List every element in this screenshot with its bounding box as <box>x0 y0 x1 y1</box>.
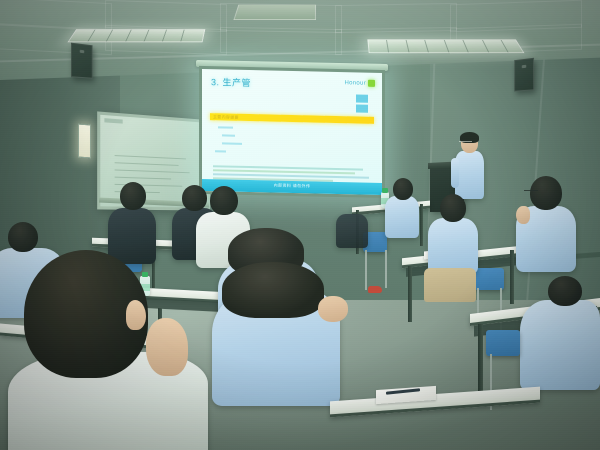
attendee-near-presenter-head <box>393 178 413 200</box>
glasses-icon <box>524 190 538 194</box>
attendee-row2-left-torso <box>108 208 156 264</box>
troffer-light-left <box>67 29 205 42</box>
chair <box>486 330 520 356</box>
sneaker-red <box>368 286 382 293</box>
chair-leg <box>365 250 367 290</box>
slide-banner-label: 主要内容提要 <box>213 113 239 121</box>
troffer-light-right <box>367 39 524 53</box>
slide-banner: 主要内容提要 <box>210 113 374 124</box>
attendee-front-left-hand <box>146 318 188 376</box>
glasses-icon <box>459 141 472 145</box>
projection-screen: 3. 生产管 Honour 主要内容提要 <box>199 66 385 198</box>
whiteboard-tag <box>104 118 122 123</box>
desk-leg <box>408 266 412 322</box>
attendee-right-striped-trousers <box>424 268 476 302</box>
attendee-right-striped-head <box>440 194 466 222</box>
slide-badge <box>356 104 368 112</box>
chair <box>474 268 504 290</box>
presentation-slide: 3. 生产管 Honour 主要内容提要 <box>202 69 382 195</box>
attendee-right-striped-torso <box>428 218 478 274</box>
wall-speaker-left <box>71 43 93 79</box>
attendee-row2-right-head <box>210 186 238 215</box>
wall-light-panel <box>78 124 91 159</box>
slide-logo-text: Honour <box>345 80 366 86</box>
attendee-row3-left-torso <box>336 214 368 248</box>
slide-bullet <box>222 134 235 136</box>
chair-leg <box>385 250 387 288</box>
presenter-torso <box>455 151 484 199</box>
attendee-row2-center-head <box>182 185 207 211</box>
classroom-photo: 3. 生产管 Honour 主要内容提要 <box>0 0 600 450</box>
ceiling-air-vent <box>233 5 316 20</box>
attendee-right-front-head <box>548 276 582 306</box>
slide-bullet <box>222 142 242 144</box>
attendee-right-glasses-hand <box>516 206 530 224</box>
slide-title: 3. 生产管 <box>211 75 251 89</box>
slide-logo: Honour <box>345 79 375 87</box>
attendee-front-left-ear <box>126 300 146 330</box>
slide-logo-mark <box>368 80 375 87</box>
slide-bullet <box>218 126 233 128</box>
desk-leg <box>420 204 423 246</box>
slide-badges <box>356 94 368 112</box>
desk-leg <box>510 250 514 304</box>
attendee-right-front-torso <box>520 300 600 390</box>
slide-badge <box>356 94 368 102</box>
attendee-near-presenter-torso <box>385 196 419 238</box>
attendee-front-center-hair <box>222 262 324 318</box>
attendee-front-left-far-head <box>8 222 38 252</box>
presenter-arm <box>451 158 459 188</box>
attendee-front-center-arm <box>318 296 348 322</box>
wall-speaker-right <box>514 58 534 92</box>
slide-bullet <box>215 150 226 152</box>
attendee-row2-left-head <box>120 182 146 210</box>
slide-footer-label: 内部资料 请勿外传 <box>274 183 311 190</box>
